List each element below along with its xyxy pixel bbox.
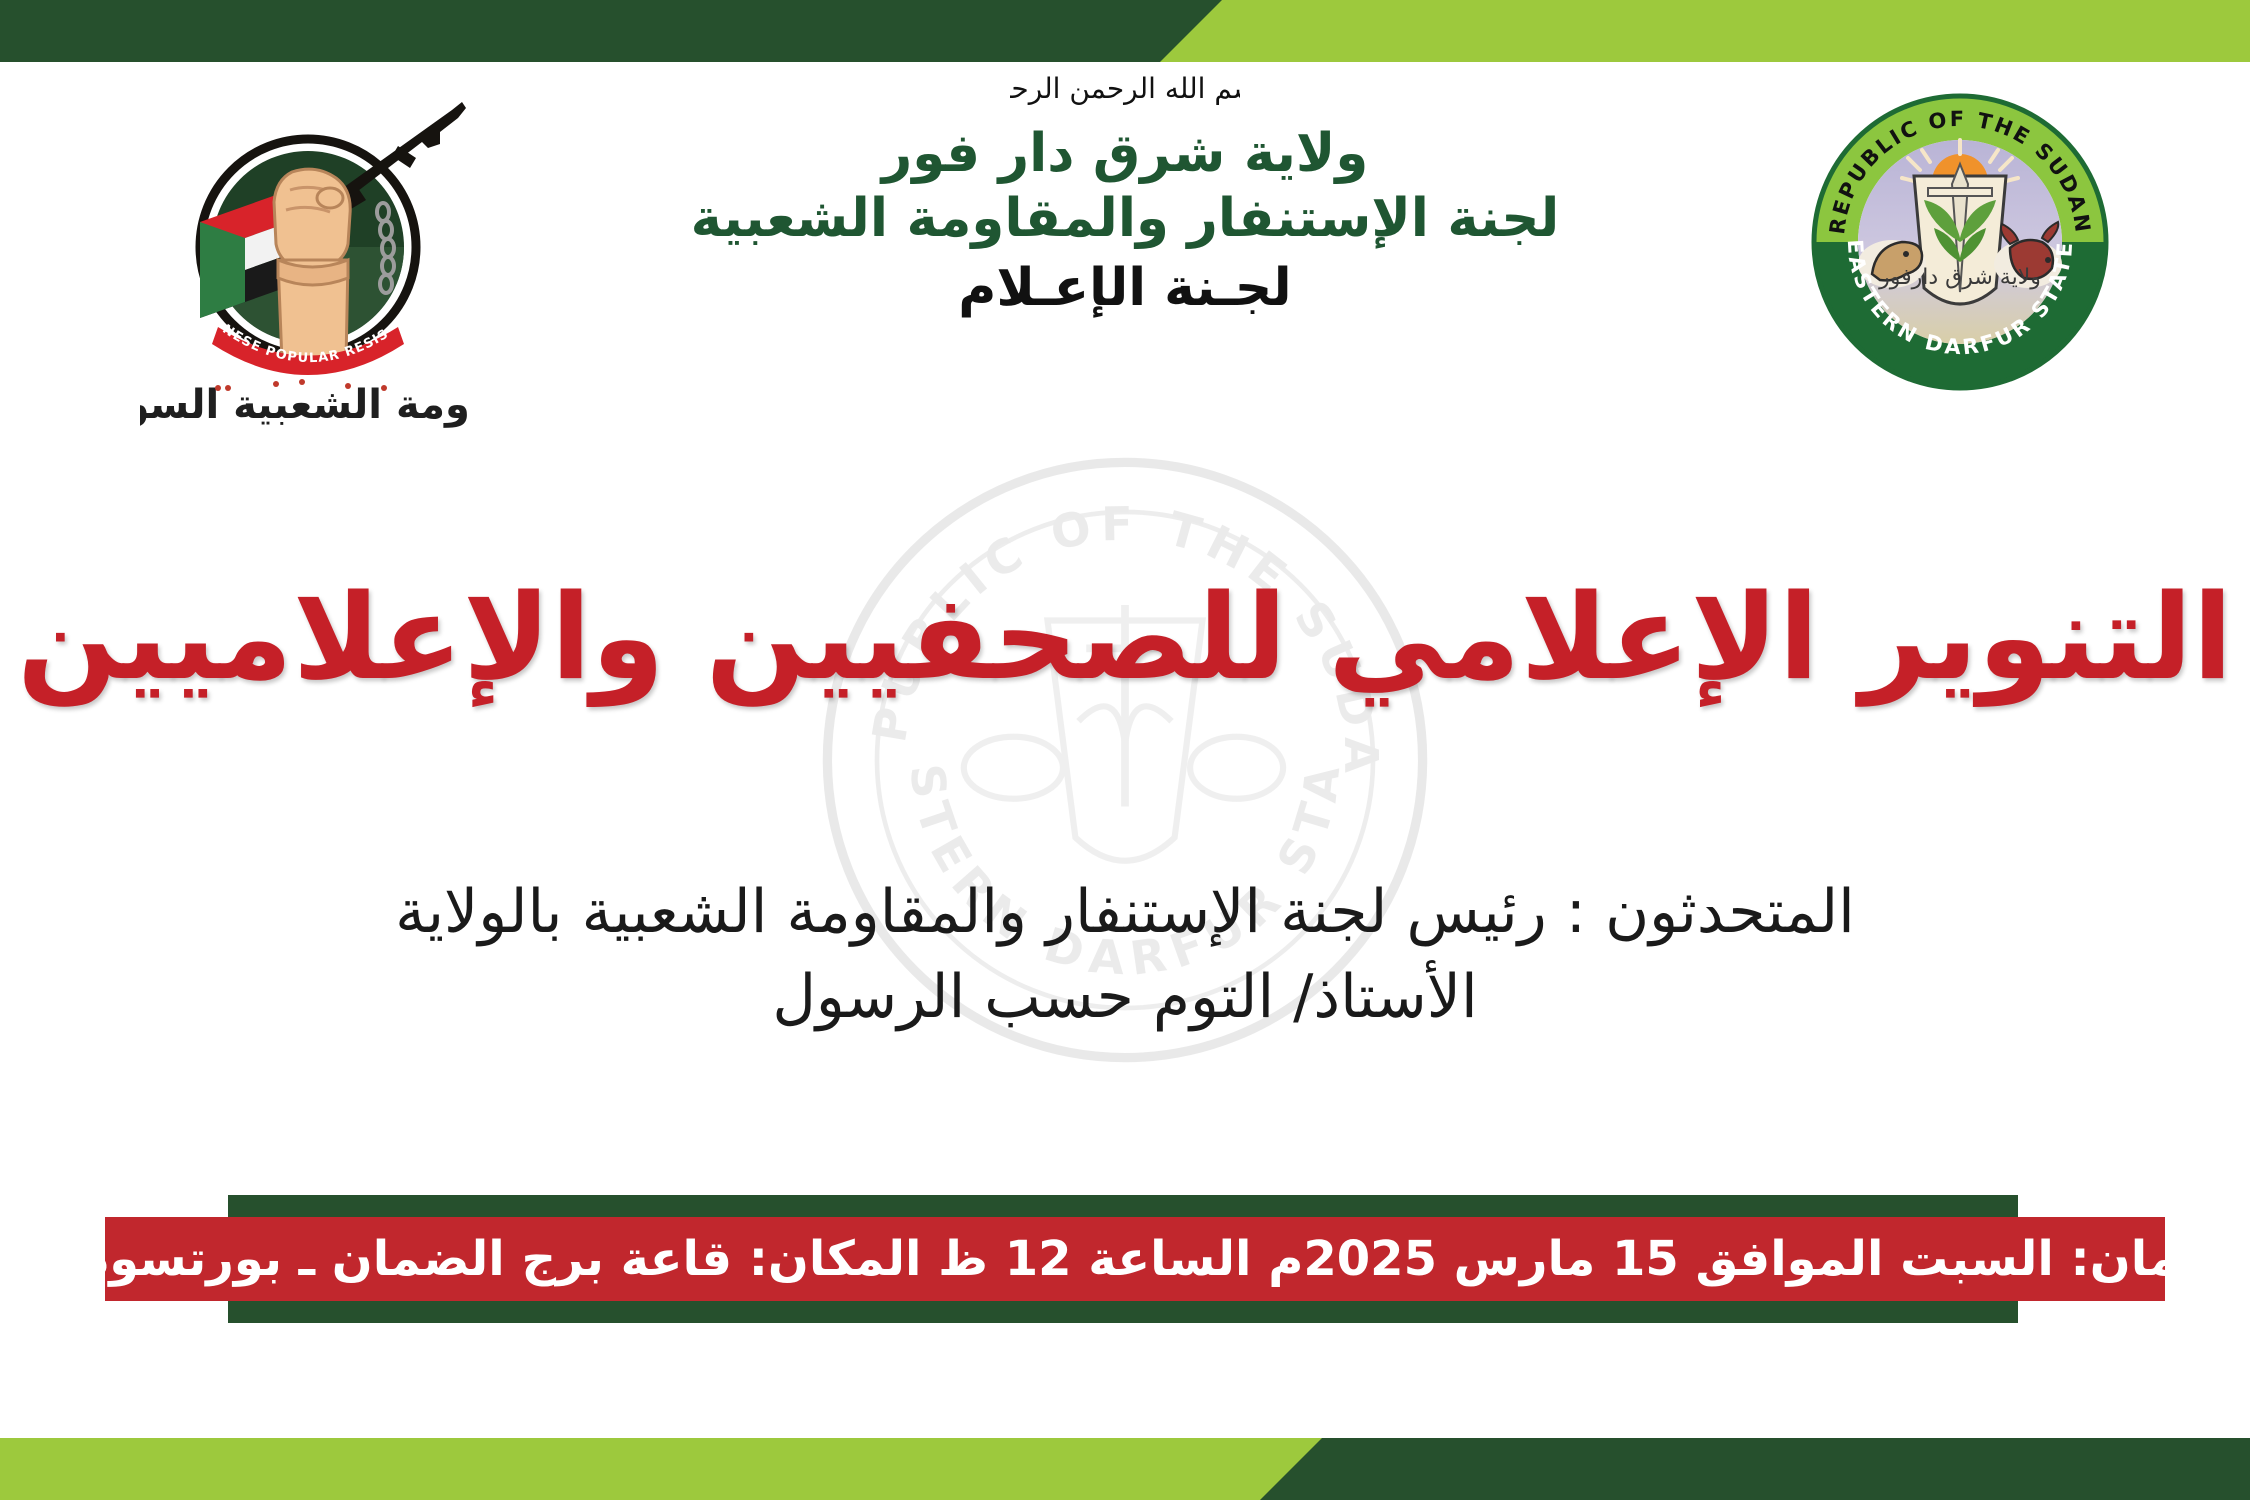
- header-line-media-committee: لجـنة الإعـلام: [560, 257, 1690, 320]
- poster-main-title: التنوير الإعلامي للصحفيين والإعلاميين: [0, 570, 2250, 706]
- top-decorative-band: [0, 0, 2250, 62]
- resistance-logo-caption: المقاومة الشعبية السودانية: [140, 382, 470, 428]
- bottom-decorative-band: [0, 1438, 2250, 1500]
- basmala-calligraphy: بسم الله الرحمن الرحيم: [1010, 62, 1240, 112]
- emblem-arabic-text: ولاية شرق دارفور: [1878, 265, 2041, 290]
- header-line-state: ولاية شرق دار فور: [560, 122, 1690, 187]
- sudanese-popular-resistance-logo: SUDANESE POPULAR RESISTANCE المقاومة الش…: [140, 72, 470, 462]
- bottom-band-light-green: [0, 1438, 1330, 1500]
- top-band-light-green: [1160, 0, 2250, 62]
- bottom-band-dark-green: [1260, 1438, 2250, 1500]
- top-band-dark-green: [0, 0, 1230, 62]
- header-text-block: بسم الله الرحمن الرحيم ولاية شرق دار فور…: [560, 62, 1690, 321]
- poster-header: SUDANESE POPULAR RESISTANCE المقاومة الش…: [0, 62, 2250, 492]
- svg-text:بسم الله الرحمن الرحيم: بسم الله الرحمن الرحيم: [1010, 72, 1240, 105]
- speakers-block: المتحدثون : رئيس لجنة الإستنفار والمقاوم…: [0, 870, 2250, 1040]
- speakers-role-line: المتحدثون : رئيس لجنة الإستنفار والمقاوم…: [0, 870, 2250, 955]
- event-details-banner: الزمان: السبت الموافق 15 مارس 2025م السا…: [0, 1195, 2250, 1335]
- banner-red-strip: الزمان: السبت الموافق 15 مارس 2025م السا…: [105, 1217, 2165, 1301]
- speaker-name-line: الأستاذ/ التوم حسب الرسول: [0, 955, 2250, 1040]
- header-line-committee: لجنة الإستنفار والمقاومة الشعبية: [560, 187, 1690, 252]
- eastern-darfur-state-emblem: ولاية شرق دارفور REPUBLIC OF THE SUDAN E…: [1810, 92, 2110, 392]
